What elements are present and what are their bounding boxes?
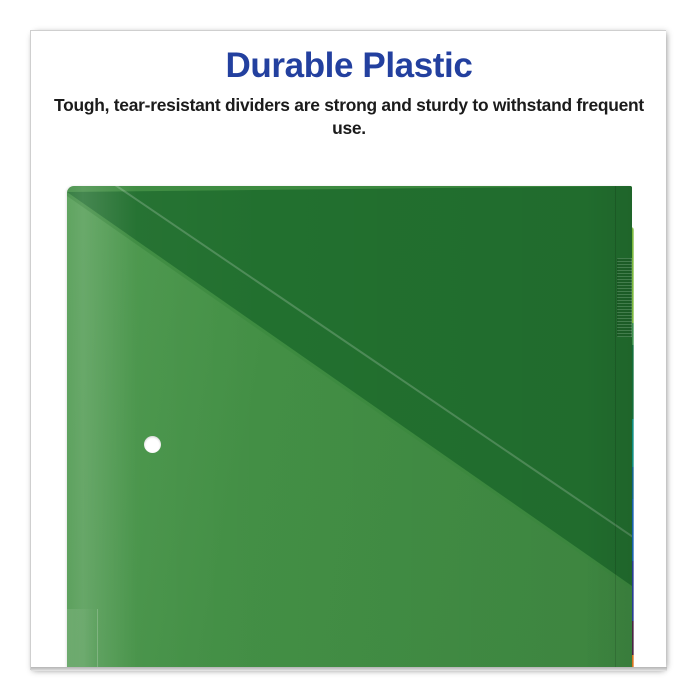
pocket-weld-seam [615, 186, 616, 671]
page-title: Durable Plastic [31, 48, 667, 85]
pocket-bottom-edge [67, 609, 98, 671]
headline-block: Durable Plastic Tough, tear-resistant di… [31, 48, 667, 140]
reinforced-ribbed-edge [617, 258, 632, 337]
plastic-pocket-divider [67, 186, 632, 671]
product-base-shadow [31, 667, 667, 671]
product-marketing-image: Durable Plastic Tough, tear-resistant di… [0, 0, 700, 700]
page-subtitle: Tough, tear-resistant dividers are stron… [31, 94, 667, 140]
punch-hole-top [144, 436, 161, 453]
white-card-frame: Durable Plastic Tough, tear-resistant di… [30, 30, 666, 670]
